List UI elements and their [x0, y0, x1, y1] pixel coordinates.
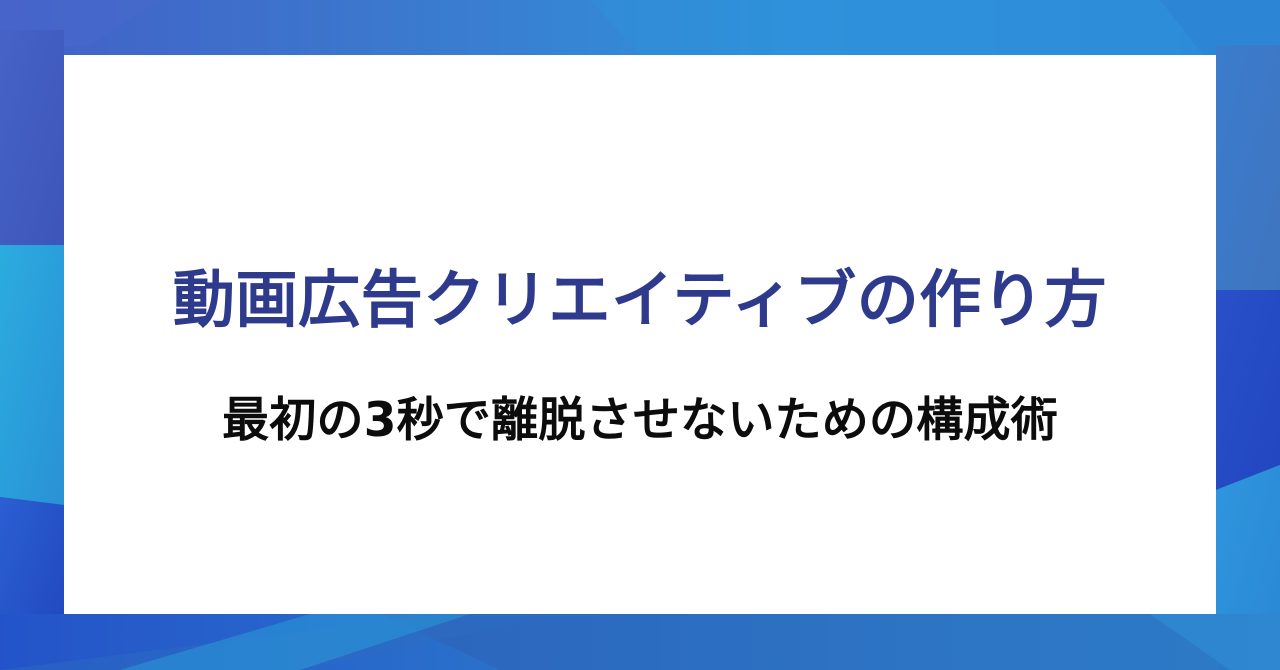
content-card: 動画広告クリエイティブの作り方 最初の3秒で離脱させないための構成術 [64, 55, 1216, 614]
shape-left-indigo [0, 30, 64, 245]
content-card-inner: 動画広告クリエイティブの作り方 最初の3秒で離脱させないための構成術 [64, 55, 1216, 614]
shape-right-steel [1216, 45, 1280, 290]
title-slide: 動画広告クリエイティブの作り方 最初の3秒で離脱させないための構成術 [0, 0, 1280, 670]
shape-right-royal [1216, 290, 1280, 490]
shape-left-cyan [0, 245, 64, 505]
page-title: 動画広告クリエイティブの作り方 [64, 265, 1216, 334]
page-subtitle: 最初の3秒で離脱させないための構成術 [64, 394, 1216, 448]
